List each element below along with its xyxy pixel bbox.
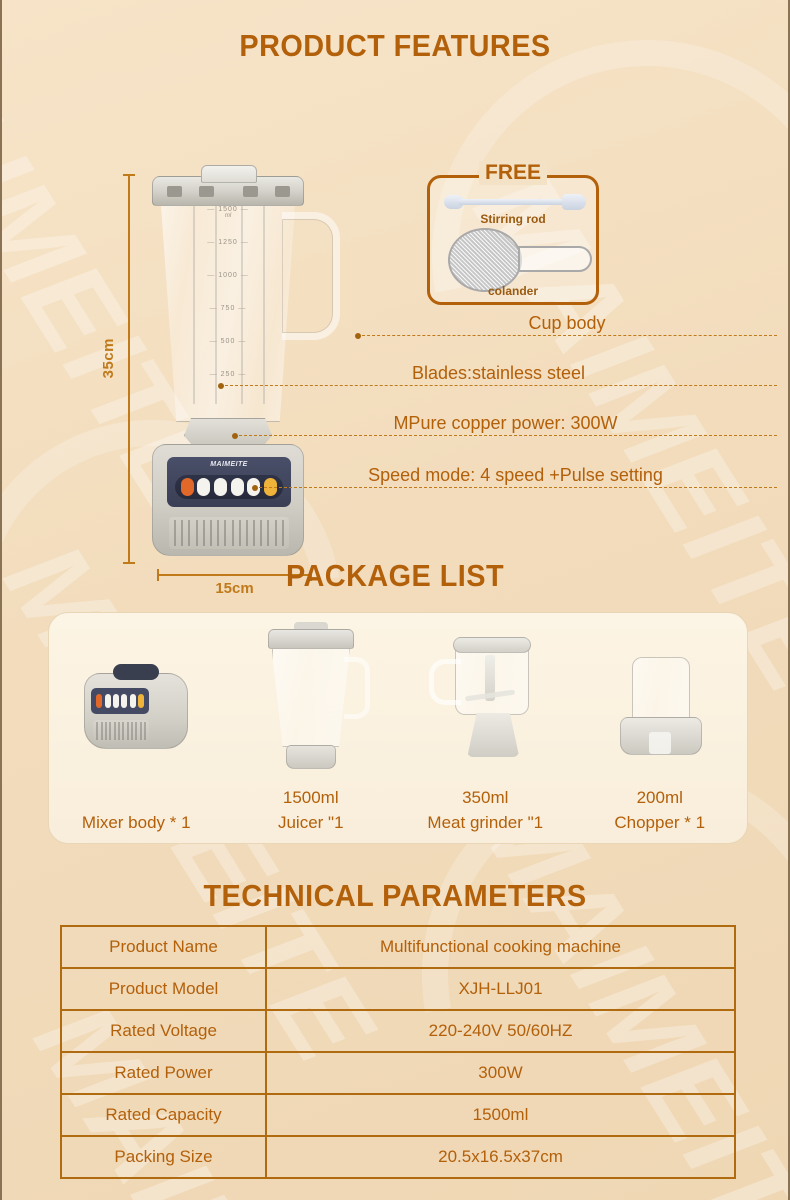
lid-notch (199, 186, 214, 197)
chopper-icon (573, 621, 748, 771)
jar-scale-tick: 1250 (161, 239, 295, 246)
vent-slat (96, 722, 98, 740)
callout-label: Speed mode: 4 speed +Pulse setting (254, 465, 777, 486)
vent-slat (232, 520, 234, 546)
table-cell-key: Rated Power (61, 1052, 266, 1094)
blender-lid (152, 176, 304, 206)
vent-slat (140, 722, 142, 740)
grinder-blade (485, 655, 495, 701)
mixer-control-panel (91, 688, 149, 714)
jar-scale-tick: 500 (161, 338, 295, 345)
height-dimension-label: 35cm (100, 338, 117, 378)
vent-slat (246, 520, 248, 546)
vent-slat (224, 520, 226, 546)
jar-handle (282, 212, 340, 340)
callout-dot (232, 433, 238, 439)
speed-button (138, 694, 144, 708)
juicer-foot (286, 745, 336, 769)
chopper-base (620, 717, 702, 755)
table-cell-value: 300W (266, 1052, 735, 1094)
callout-label: MPure copper power: 300W (234, 413, 777, 434)
chopper-cup (632, 657, 690, 723)
vent-slat (101, 722, 103, 740)
callout-cup-body: Cup body (357, 302, 777, 336)
package-list-card: Mixer body * 1 1500ml Juicer "1 (48, 612, 748, 844)
lid-notch (275, 186, 290, 197)
table-cell-value: 1500ml (266, 1094, 735, 1136)
table-row: Rated Capacity1500ml (61, 1094, 735, 1136)
package-item-mixer-body: Mixer body * 1 (49, 613, 224, 843)
vent-slat (109, 722, 111, 740)
package-item-chopper: 200ml Chopper * 1 (573, 613, 748, 843)
vent-slat (131, 722, 133, 740)
juicer-handle (344, 657, 370, 719)
table-cell-key: Product Name (61, 926, 266, 968)
package-item-labels: 1500ml Juicer "1 (224, 785, 399, 835)
vent-slat (188, 520, 190, 546)
jar-scale-tick: 750 (161, 305, 295, 312)
table-row: Rated Power300W (61, 1052, 735, 1094)
chopper-shape (614, 657, 706, 765)
free-badge: FREE (479, 161, 547, 185)
lid-notch (167, 186, 182, 197)
grinder-handle (429, 659, 461, 705)
vent-slat (267, 520, 269, 546)
callout-dot (355, 333, 361, 339)
grinder-lid (453, 637, 531, 653)
juicer-jar-icon (224, 621, 399, 771)
juicer-body (272, 649, 350, 747)
callout-leader-line (234, 435, 777, 436)
vent-slat (118, 722, 120, 740)
package-item-name: Juicer "1 (224, 810, 399, 835)
callout-dot (252, 485, 258, 491)
vent-slat (122, 722, 124, 740)
vent-slat (260, 520, 262, 546)
base-vents (169, 517, 289, 549)
colander-mesh (448, 228, 522, 292)
table-row: Rated Voltage220-240V 50/60HZ (61, 1010, 735, 1052)
technical-parameters-table: Product NameMultifunctional cooking mach… (60, 925, 736, 1179)
callout-leader-line (220, 385, 777, 386)
vent-slat (217, 520, 219, 546)
callout-label: Cup body (357, 313, 777, 334)
vent-slat (135, 722, 137, 740)
jar-measurement-scale: 1500ml12501000750500250 (161, 192, 295, 421)
height-dimension-line (128, 174, 130, 564)
package-item-juicer: 1500ml Juicer "1 (224, 613, 399, 843)
vent-slat (144, 722, 146, 740)
vent-slat (174, 520, 176, 546)
table-row: Product NameMultifunctional cooking mach… (61, 926, 735, 968)
mixer-vents (93, 720, 149, 742)
stirring-rod-icon (444, 194, 586, 210)
meat-grinder-icon (398, 621, 573, 771)
speed-button (121, 694, 127, 708)
speed-button (130, 694, 136, 708)
table-cell-value: 20.5x16.5x37cm (266, 1136, 735, 1178)
vent-slat (253, 520, 255, 546)
table-row: Product ModelXJH-LLJ01 (61, 968, 735, 1010)
juicer-shape (256, 629, 366, 771)
rod-tail (562, 194, 586, 210)
callout-label: Blades:stainless steel (220, 363, 777, 384)
table-cell-key: Rated Capacity (61, 1094, 266, 1136)
stirring-rod-label: Stirring rod (430, 212, 596, 226)
table-cell-value: 220-240V 50/60HZ (266, 1010, 735, 1052)
speed-button (113, 694, 119, 708)
blender-jar: 1500ml12501000750500250 (160, 192, 296, 422)
vent-slat (275, 520, 277, 546)
callout-dot (218, 383, 224, 389)
vent-slat (282, 520, 284, 546)
speed-button[interactable] (231, 478, 244, 496)
vent-slat (114, 722, 116, 740)
package-item-meat-grinder: 350ml Meat grinder "1 (398, 613, 573, 843)
product-features-section: 35cm 15cm 1500ml12501000750500250 MAIMEI… (2, 80, 788, 530)
package-item-name: Chopper * 1 (573, 810, 748, 835)
jar-scale-tick: 1000 (161, 272, 295, 279)
package-item-capacity: 200ml (573, 785, 748, 810)
vent-slat (239, 520, 241, 546)
package-item-name: Mixer body * 1 (49, 810, 224, 835)
table-cell-key: Packing Size (61, 1136, 266, 1178)
vent-slat (105, 722, 107, 740)
vent-slat (181, 520, 183, 546)
juicer-lid (268, 629, 354, 649)
mixer-body-icon (49, 621, 224, 771)
lid-cap (201, 165, 257, 183)
table-cell-value: Multifunctional cooking machine (266, 926, 735, 968)
speed-button[interactable] (181, 478, 194, 496)
table-cell-key: Product Model (61, 968, 266, 1010)
table-cell-value: XJH-LLJ01 (266, 968, 735, 1010)
speed-button[interactable] (197, 478, 210, 496)
package-item-name: Meat grinder "1 (398, 810, 573, 835)
package-list-heading: PACKAGE LIST (30, 558, 761, 594)
speed-button (96, 694, 102, 708)
package-item-capacity: 1500ml (224, 785, 399, 810)
package-item-capacity: 350ml (398, 785, 573, 810)
callout-power: MPure copper power: 300W (234, 402, 777, 436)
vent-slat (203, 520, 205, 546)
free-accessories-box: FREE Stirring rod colander (427, 175, 599, 305)
mixer-coupler (113, 664, 159, 680)
lid-notch (243, 186, 258, 197)
colander-handle (518, 246, 592, 272)
technical-parameters-heading: TECHNICAL PARAMETERS (30, 878, 761, 914)
callout-speed-mode: Speed mode: 4 speed +Pulse setting (254, 454, 777, 488)
speed-button (105, 694, 111, 708)
meat-grinder-shape (429, 635, 541, 769)
vent-slat (127, 722, 129, 740)
package-item-labels: Mixer body * 1 (49, 810, 224, 835)
callout-leader-line (254, 487, 777, 488)
mixer-body-shell (84, 673, 188, 749)
vent-slat (196, 520, 198, 546)
package-item-labels: 200ml Chopper * 1 (573, 785, 748, 835)
table-cell-key: Rated Voltage (61, 1010, 266, 1052)
vent-slat (210, 520, 212, 546)
package-grid: Mixer body * 1 1500ml Juicer "1 (49, 613, 747, 843)
callout-leader-line (357, 335, 777, 336)
table-row: Packing Size20.5x16.5x37cm (61, 1136, 735, 1178)
grinder-foot (467, 713, 519, 757)
rod-body (458, 199, 574, 205)
jar-scale-tick: 1500ml (161, 206, 295, 219)
package-item-labels: 350ml Meat grinder "1 (398, 785, 573, 835)
product-features-heading: PRODUCT FEATURES (30, 28, 761, 64)
colander-label: colander (430, 284, 596, 298)
speed-button[interactable] (214, 478, 227, 496)
callout-blades: Blades:stainless steel (220, 352, 777, 386)
